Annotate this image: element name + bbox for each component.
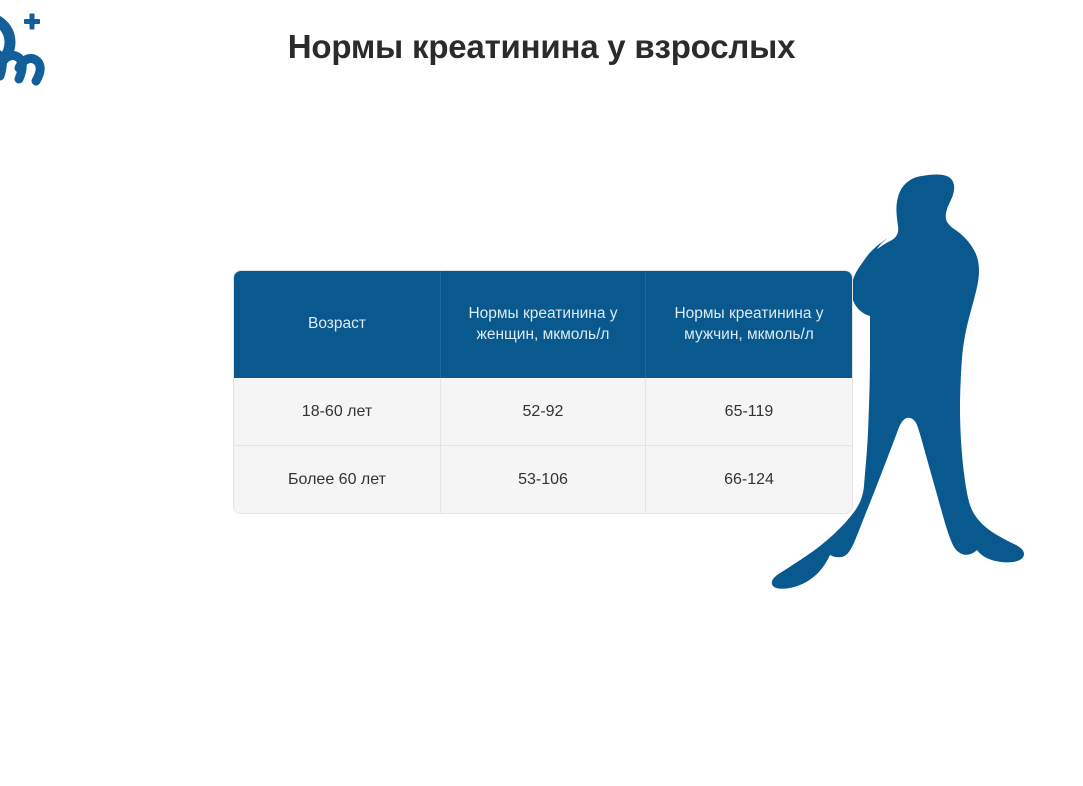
- table-header: Возраст Нормы креатинина у женщин, мкмол…: [234, 271, 852, 378]
- table-row: Более 60 лет 53-106 66-124: [234, 445, 852, 513]
- column-header-women: Нормы креатинина у женщин, мкмоль/л: [441, 271, 646, 378]
- column-header-age: Возраст: [234, 271, 441, 378]
- column-header-men: Нормы креатинина у мужчин, мкмоль/л: [646, 271, 852, 378]
- cell-age: Более 60 лет: [234, 445, 441, 513]
- cell-men: 65-119: [646, 378, 852, 445]
- cell-women: 53-106: [441, 445, 646, 513]
- table-row: 18-60 лет 52-92 65-119: [234, 378, 852, 445]
- cell-women: 52-92: [441, 378, 646, 445]
- page-title: Нормы креатинина у взрослых: [0, 28, 1083, 66]
- cell-age: 18-60 лет: [234, 378, 441, 445]
- table-body: 18-60 лет 52-92 65-119 Более 60 лет 53-1…: [234, 378, 852, 513]
- table-header-row: Возраст Нормы креатинина у женщин, мкмол…: [234, 271, 852, 378]
- cell-men: 66-124: [646, 445, 852, 513]
- creatinine-norms-table: Возраст Нормы креатинина у женщин, мкмол…: [234, 271, 852, 513]
